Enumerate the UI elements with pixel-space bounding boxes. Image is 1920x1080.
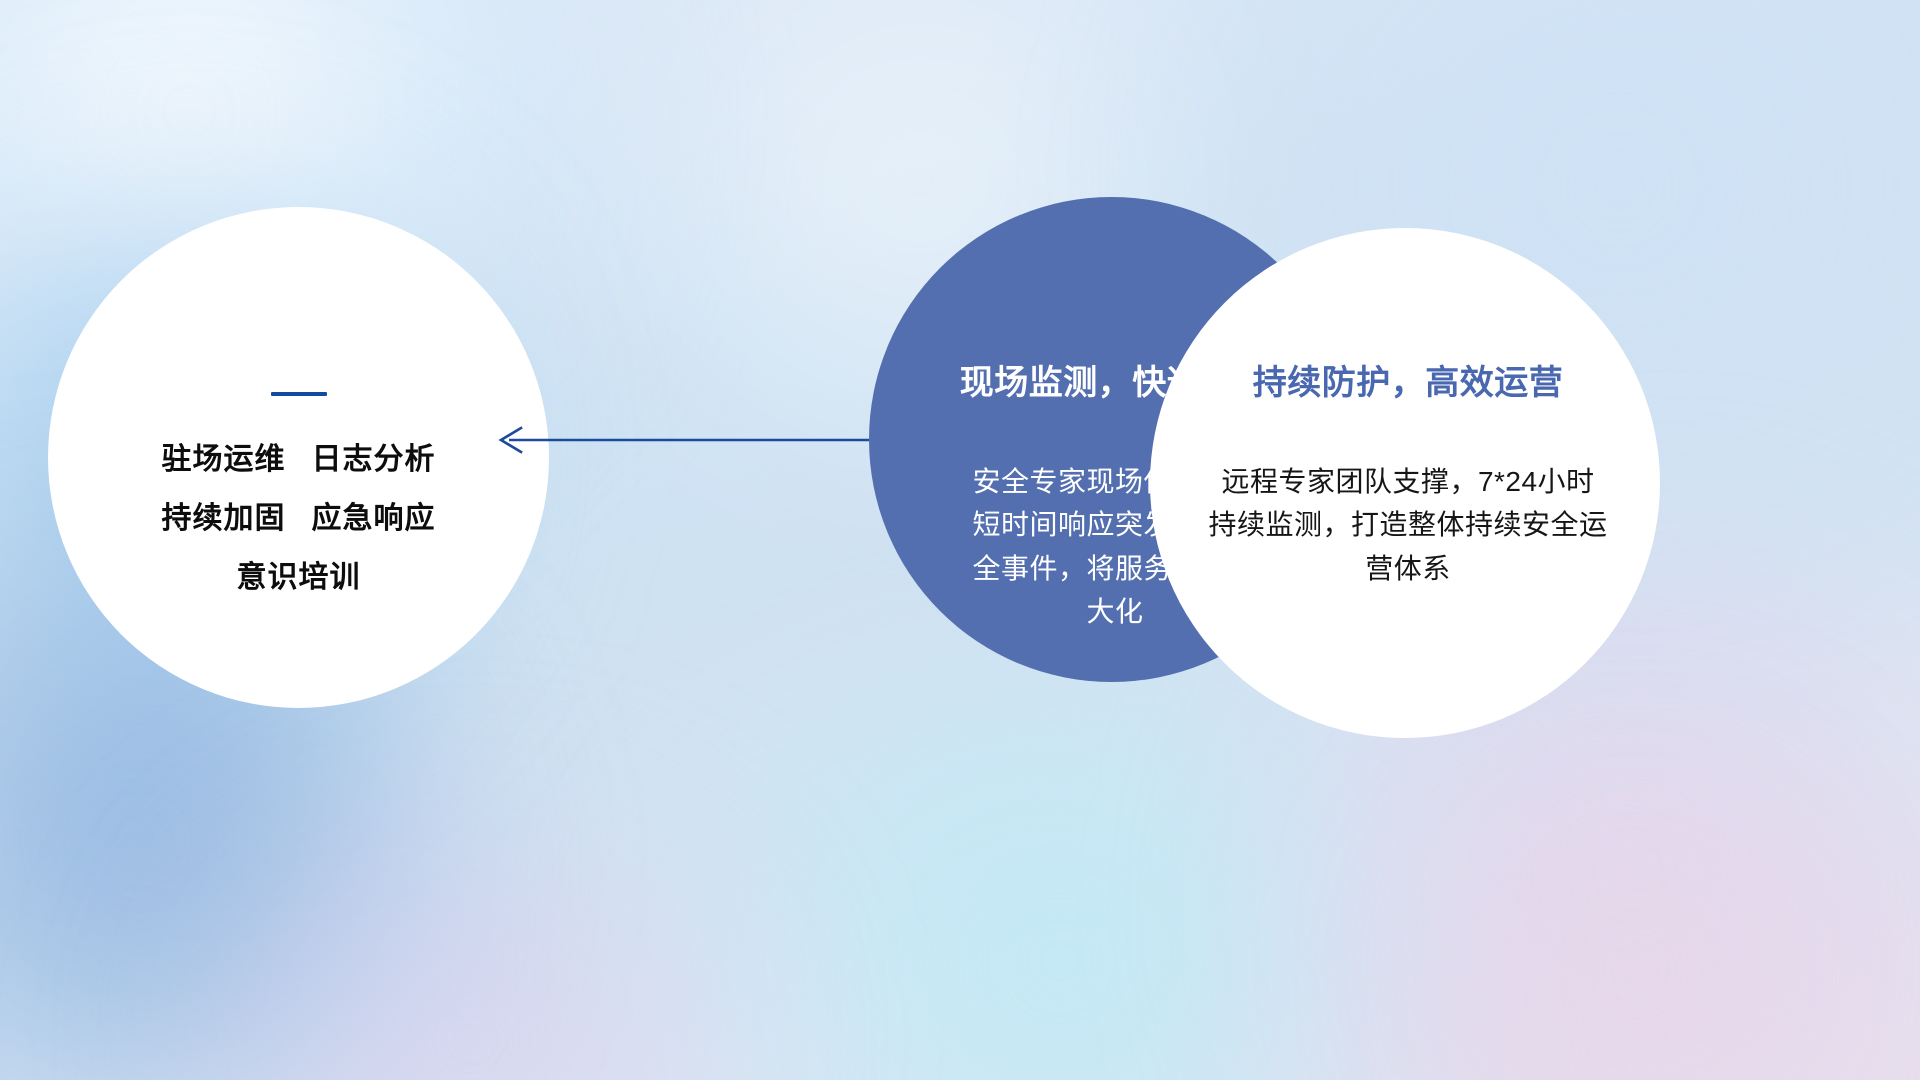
capability-label: 驻场运维: [162, 443, 286, 476]
capability-label: 应急响应: [312, 502, 436, 535]
list-item: 驻场运维日志分析: [162, 443, 436, 476]
left-capability-circle[interactable]: 驻场运维日志分析 持续加固应急响应 意识培训: [48, 207, 549, 708]
left-arrow-icon: [495, 418, 875, 462]
left-capability-list: 驻场运维日志分析 持续加固应急响应 意识培训: [162, 443, 436, 594]
background-blob-bottom-left: [120, 820, 820, 1080]
slide-canvas: 驻场运维日志分析 持续加固应急响应 意识培训 现场监测，快速响应 安全专家现场保…: [0, 0, 1920, 1080]
background-blob-bottom-center: [560, 700, 1560, 1080]
right-service-circle[interactable]: [1150, 228, 1660, 738]
list-item: 意识培训: [237, 561, 361, 594]
capability-label: 意识培训: [237, 561, 361, 594]
capability-label: 日志分析: [312, 443, 436, 476]
background-blob-right-pink: [1380, 760, 1900, 1080]
capability-label: 持续加固: [162, 502, 286, 535]
list-item: 持续加固应急响应: [162, 502, 436, 535]
divider-dash-icon: [271, 392, 327, 396]
